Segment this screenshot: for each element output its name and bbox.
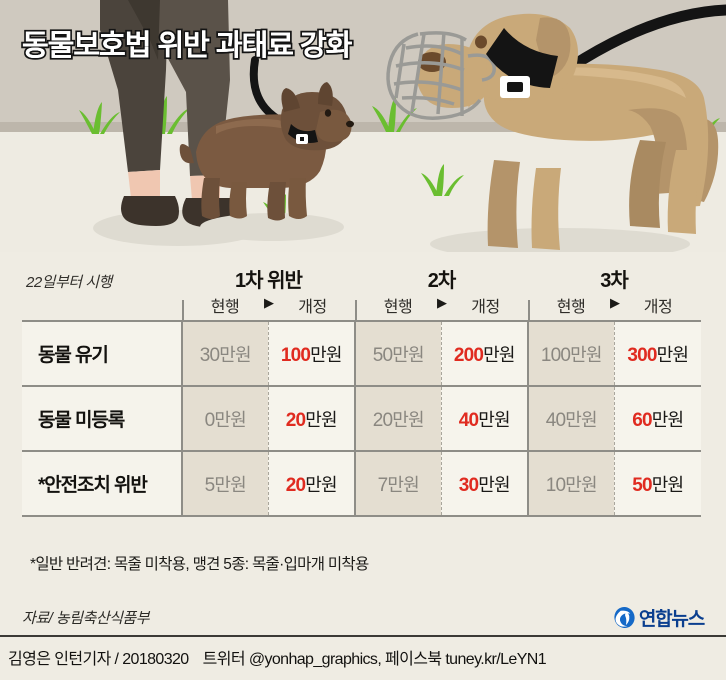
value-unit: 만원 <box>657 345 689 365</box>
value-number: 20 <box>286 475 306 496</box>
value-number: 30 <box>200 345 220 366</box>
value-number: 7 <box>378 475 388 496</box>
cell-current-2-1: 50만원 <box>355 321 441 386</box>
cell-revised-2-2: 40만원 <box>441 386 528 451</box>
cell-current-2-2: 20만원 <box>355 386 441 451</box>
value-number: 200 <box>454 345 483 366</box>
value-unit: 만원 <box>652 475 684 495</box>
value-number: 0 <box>205 410 215 431</box>
cell-current-3-3: 10만원 <box>528 451 614 516</box>
cell-revised-3-3: 50만원 <box>614 451 701 516</box>
big-dog-eye <box>475 36 487 49</box>
value-number: 5 <box>205 475 215 496</box>
credit-line: 김영은 인턴기자 / 20180320트위터 @yonhap_graphics,… <box>8 645 546 669</box>
cell-revised-1-1: 100만원 <box>268 321 355 386</box>
value-unit: 만원 <box>565 410 597 430</box>
row-category: 동물 미등록 <box>22 386 182 451</box>
value-unit: 만원 <box>478 475 510 495</box>
cell-revised-1-3: 20만원 <box>268 451 355 516</box>
value-number: 10 <box>546 475 566 496</box>
value-unit: 만원 <box>478 410 510 430</box>
table-row: 동물 유기 30만원 100만원 50만원 200만원 100만원 300만원 <box>22 321 701 386</box>
yonhap-logo-text: 연합뉴스 <box>639 604 704 631</box>
cell-current-2-3: 7만원 <box>355 451 441 516</box>
value-unit: 만원 <box>652 410 684 430</box>
cell-current-1-3: 5만원 <box>182 451 268 516</box>
value-number: 40 <box>546 410 566 431</box>
group-title-3: 3차 <box>528 264 700 293</box>
value-unit: 만원 <box>219 345 251 365</box>
value-number: 60 <box>632 410 652 431</box>
subheader-revised-3: 개정 <box>616 293 700 317</box>
value-unit: 만원 <box>305 410 337 430</box>
yonhap-logo-icon <box>613 606 636 629</box>
cell-current-3-1: 100만원 <box>528 321 614 386</box>
small-dog-eye <box>325 109 331 117</box>
value-unit: 만원 <box>570 345 602 365</box>
value-number: 50 <box>373 345 393 366</box>
value-number: 100 <box>281 345 310 366</box>
value-unit: 만원 <box>387 475 419 495</box>
cell-revised-3-1: 300만원 <box>614 321 701 386</box>
value-number: 30 <box>459 475 479 496</box>
table-row: 동물 미등록 0만원 20만원 20만원 40만원 40만원 60만원 <box>22 386 701 451</box>
cell-revised-2-3: 30만원 <box>441 451 528 516</box>
value-unit: 만원 <box>214 475 246 495</box>
fine-table: 동물 유기 30만원 100만원 50만원 200만원 100만원 300만원 … <box>22 320 701 517</box>
cell-revised-2-1: 200만원 <box>441 321 528 386</box>
value-unit: 만원 <box>483 345 515 365</box>
table-row: *안전조치 위반 5만원 20만원 7만원 30만원 10만원 50만원 <box>22 451 701 516</box>
subheader-revised-2: 개정 <box>443 293 528 317</box>
value-number: 20 <box>286 410 306 431</box>
value-unit: 만원 <box>392 345 424 365</box>
subheader-revised-1: 개정 <box>270 293 355 317</box>
small-dog-nose <box>346 121 354 127</box>
source-bar: 자료/ 농림축산식품부 연합뉴스 <box>0 597 726 637</box>
group-title-2: 2차 <box>355 264 528 293</box>
row-category: *안전조치 위반 <box>22 451 182 516</box>
cell-current-1-2: 0만원 <box>182 386 268 451</box>
big-dog-front-leg-near <box>532 168 562 250</box>
illustration: 동물보호법 위반 과태료 강화 동물보호법 위반 과태료 강화 <box>0 0 726 252</box>
yonhap-logo: 연합뉴스 <box>613 604 704 631</box>
ankle-left <box>128 170 160 198</box>
cell-revised-1-2: 20만원 <box>268 386 355 451</box>
credit-author: 김영은 인턴기자 / 20180320 <box>8 651 189 668</box>
group-title-1: 1차 위반 <box>182 264 355 293</box>
credit-social: 트위터 @yonhap_graphics, 페이스북 tuney.kr/LeYN… <box>203 651 546 668</box>
value-unit: 만원 <box>310 345 342 365</box>
value-number: 40 <box>459 410 479 431</box>
value-number: 50 <box>632 475 652 496</box>
value-number: 300 <box>627 345 656 366</box>
cell-revised-3-2: 60만원 <box>614 386 701 451</box>
value-number: 20 <box>373 410 393 431</box>
cell-current-1-1: 30만원 <box>182 321 268 386</box>
table-header: 22일부터 시행 1차 위반 2차 3차 현행 ▶ 개정 현행 ▶ 개정 현행 … <box>22 260 700 320</box>
big-dog-front-leg-far <box>488 160 520 248</box>
value-unit: 만원 <box>305 475 337 495</box>
shoe-left <box>121 196 179 226</box>
table-footnote: *일반 반려견: 목줄 미착용, 맹견 5종: 목줄·입마개 미착용 <box>30 552 369 574</box>
table-section: 22일부터 시행 1차 위반 2차 3차 현행 ▶ 개정 현행 ▶ 개정 현행 … <box>0 252 726 597</box>
value-unit: 만원 <box>565 475 597 495</box>
row-category: 동물 유기 <box>22 321 182 386</box>
source-label: 자료/ 농림축산식품부 <box>22 607 149 628</box>
value-unit: 만원 <box>392 410 424 430</box>
value-unit: 만원 <box>214 410 246 430</box>
effective-date-label: 22일부터 시행 <box>26 271 112 292</box>
page-title: 동물보호법 위반 과태료 강화 <box>22 22 351 64</box>
cell-current-3-2: 40만원 <box>528 386 614 451</box>
value-number: 100 <box>541 345 570 366</box>
